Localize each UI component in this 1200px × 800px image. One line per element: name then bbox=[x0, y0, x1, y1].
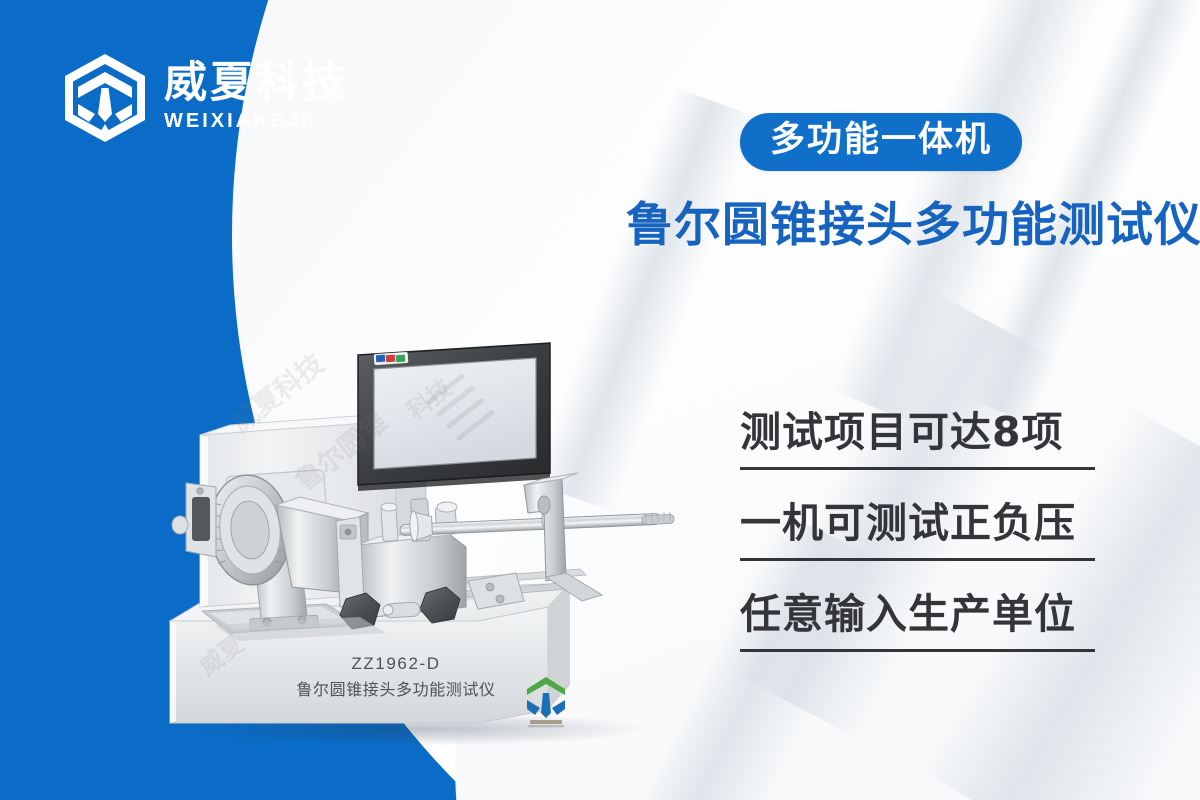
hmi-screen bbox=[374, 358, 536, 469]
brand-name-en: WEIXIAKEJI bbox=[164, 108, 348, 135]
feature-label: 测试项目可达8项 bbox=[740, 412, 1100, 467]
list-item: 一机可测试正负压 bbox=[740, 503, 1100, 561]
brand-wordmark: 威夏科技 WEIXIAKEJI bbox=[164, 61, 348, 136]
divider bbox=[740, 649, 1095, 652]
feature-label: 一机可测试正负压 bbox=[740, 503, 1100, 558]
brand-name-cn: 威夏科技 bbox=[164, 61, 348, 107]
product-photo bbox=[150, 325, 690, 745]
page-title: 鲁尔圆锥接头多功能测试仪 bbox=[626, 198, 1200, 254]
brand-logo: 威夏科技 WEIXIAKEJI bbox=[62, 52, 348, 144]
divider bbox=[740, 467, 1095, 470]
hexagon-shield-arrow-logo-icon bbox=[62, 52, 148, 144]
product-banner: 威夏科技 WEIXIAKEJI 多功能一体机 鲁尔圆锥接头多功能测试仪 测试项目… bbox=[0, 0, 1200, 800]
feature-list: 测试项目可达8项 一机可测试正负压 任意输入生产单位 bbox=[740, 412, 1100, 685]
divider bbox=[740, 558, 1095, 561]
list-item: 测试项目可达8项 bbox=[740, 412, 1100, 470]
feature-label: 任意输入生产单位 bbox=[740, 594, 1100, 649]
list-item: 任意输入生产单位 bbox=[740, 594, 1100, 652]
weixia-sticker-logo-icon bbox=[520, 673, 572, 729]
hero-badge: 多功能一体机 bbox=[740, 113, 1022, 171]
hmi-panel bbox=[358, 343, 550, 491]
